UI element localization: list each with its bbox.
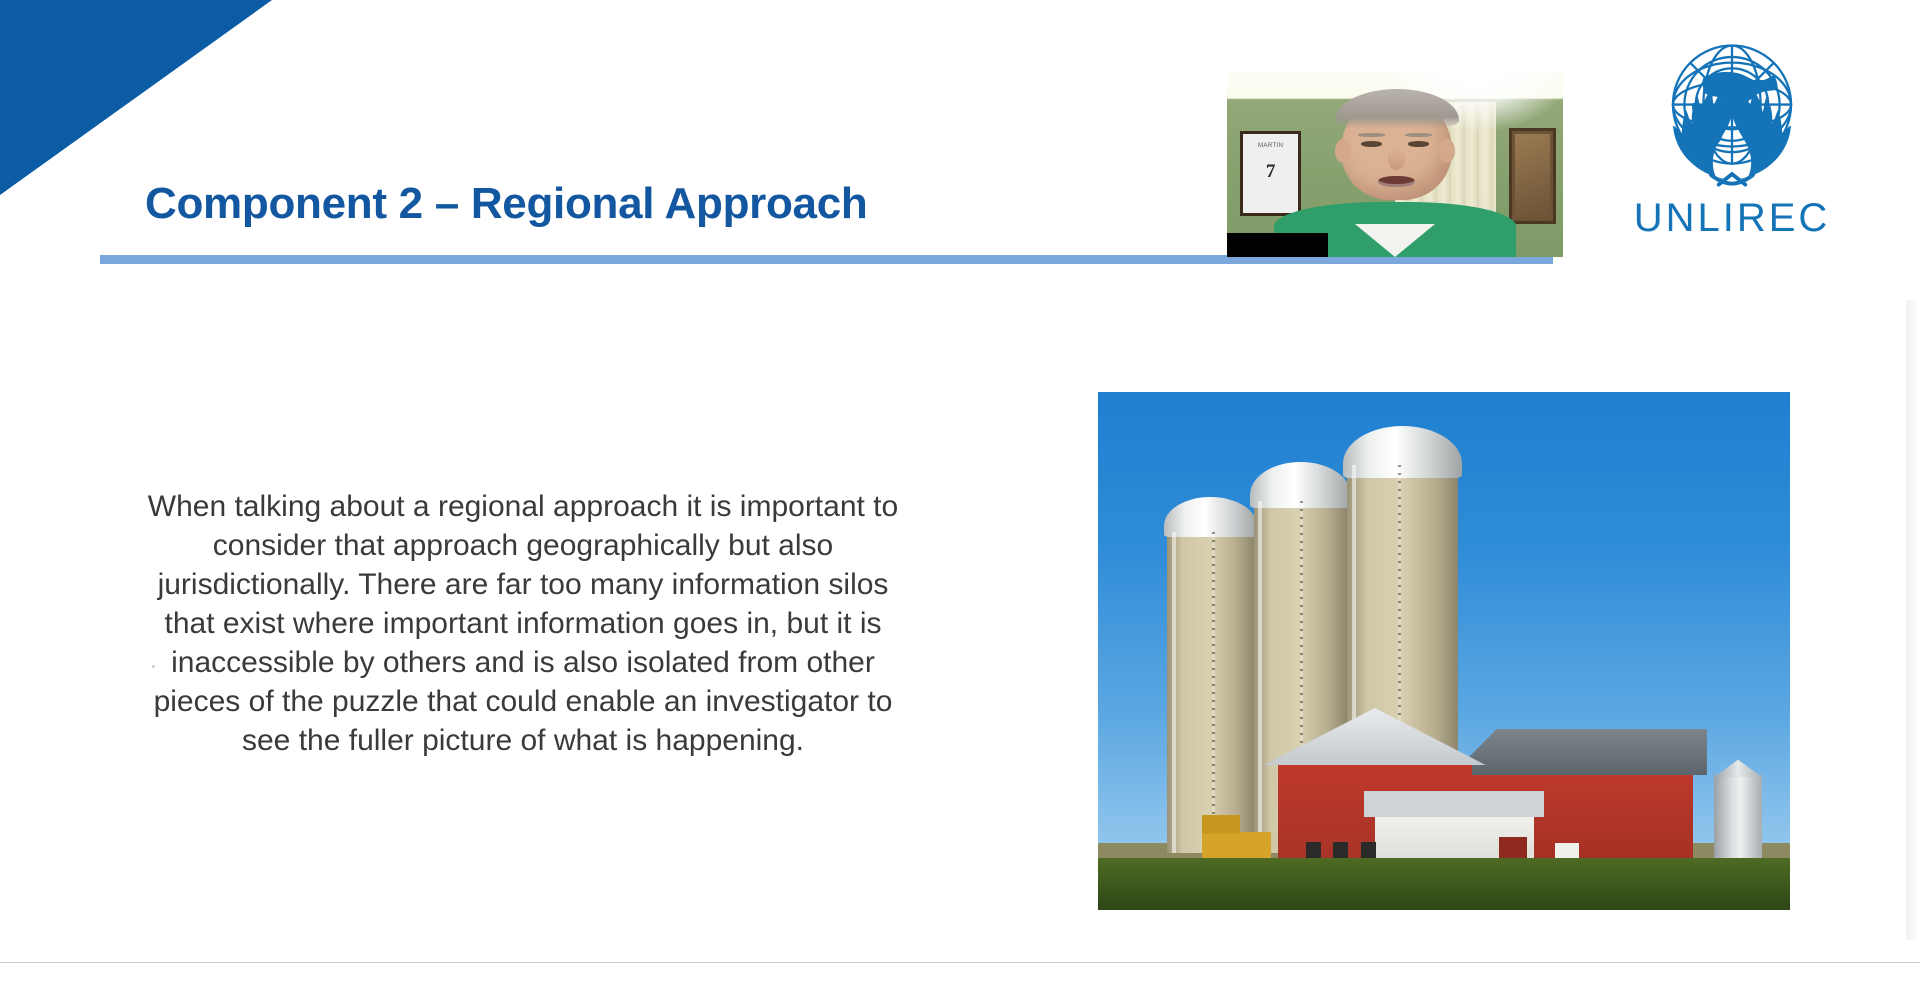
jersey-number: 7 — [1243, 161, 1297, 183]
unlirec-logo: UNLIREC — [1584, 36, 1880, 242]
video-presenter-nose — [1388, 148, 1405, 170]
corner-triangle-decoration — [0, 0, 272, 195]
united-nations-emblem-icon — [1636, 36, 1828, 196]
video-presenter-ear-left — [1335, 139, 1352, 163]
photo-white-shed-roof — [1364, 791, 1544, 817]
photo-barn-window — [1306, 842, 1321, 859]
below-slide-strip — [0, 963, 1920, 989]
right-scroll-gutter[interactable] — [1906, 300, 1920, 940]
video-letterbox-bar — [1227, 233, 1328, 257]
video-framed-jersey: MARTIN 7 — [1240, 131, 1300, 216]
photo-grass-field — [1098, 858, 1790, 910]
photo-silo-ladder — [1212, 532, 1215, 853]
unlirec-wordmark: UNLIREC — [1584, 196, 1880, 241]
photo-tractor-cab — [1202, 815, 1240, 834]
photo-silo-left — [1167, 532, 1254, 853]
presenter-video-overlay[interactable]: MARTIN 7 — [1227, 72, 1563, 257]
video-presenter-mouth — [1378, 176, 1415, 187]
photo-silo-highlight — [1172, 532, 1176, 853]
video-presenter-eye-left — [1361, 141, 1381, 147]
photo-barn-window — [1361, 842, 1376, 859]
stray-bullet-artifact — [152, 665, 155, 668]
video-wall-picture-frame — [1509, 128, 1556, 224]
slide-title: Component 2 – Regional Approach — [145, 180, 867, 228]
farm-silos-photo — [1098, 392, 1790, 910]
photo-barn-window — [1333, 842, 1348, 859]
video-presenter-ear-right — [1439, 139, 1456, 163]
jersey-name-tag: MARTIN — [1243, 143, 1297, 149]
video-presenter-eye-right — [1408, 141, 1428, 147]
presentation-screen: Component 2 – Regional Approach When tal… — [0, 0, 1920, 989]
slide-body-text: When talking about a regional approach i… — [140, 487, 906, 760]
photo-silo-highlight — [1258, 501, 1262, 853]
